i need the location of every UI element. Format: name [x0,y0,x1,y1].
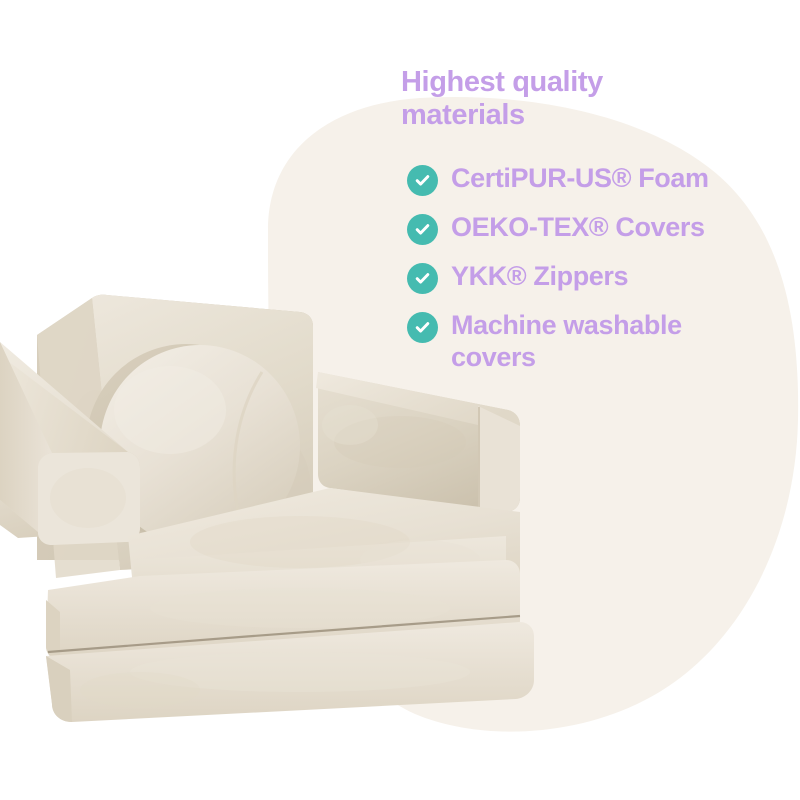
list-item: Machine washable covers [407,309,799,373]
feature-label: OEKO-TEX® Covers [451,211,705,243]
list-item: YKK® Zippers [407,260,799,294]
feature-panel: Highest quality materials CertiPUR-US® F… [401,66,793,132]
feature-label: Machine washable covers [451,309,682,373]
feature-card: Highest quality materials CertiPUR-US® F… [0,0,800,800]
list-item: OEKO-TEX® Covers [407,211,799,245]
list-item: CertiPUR-US® Foam [407,162,799,196]
check-circle-icon [407,312,438,343]
feature-label: CertiPUR-US® Foam [451,162,709,194]
feature-label: YKK® Zippers [451,260,628,292]
check-circle-icon [407,214,438,245]
page-title: Highest quality materials [401,66,793,132]
feature-list: CertiPUR-US® Foam OEKO-TEX® Covers YKK® … [407,162,799,388]
check-circle-icon [407,165,438,196]
check-circle-icon [407,263,438,294]
